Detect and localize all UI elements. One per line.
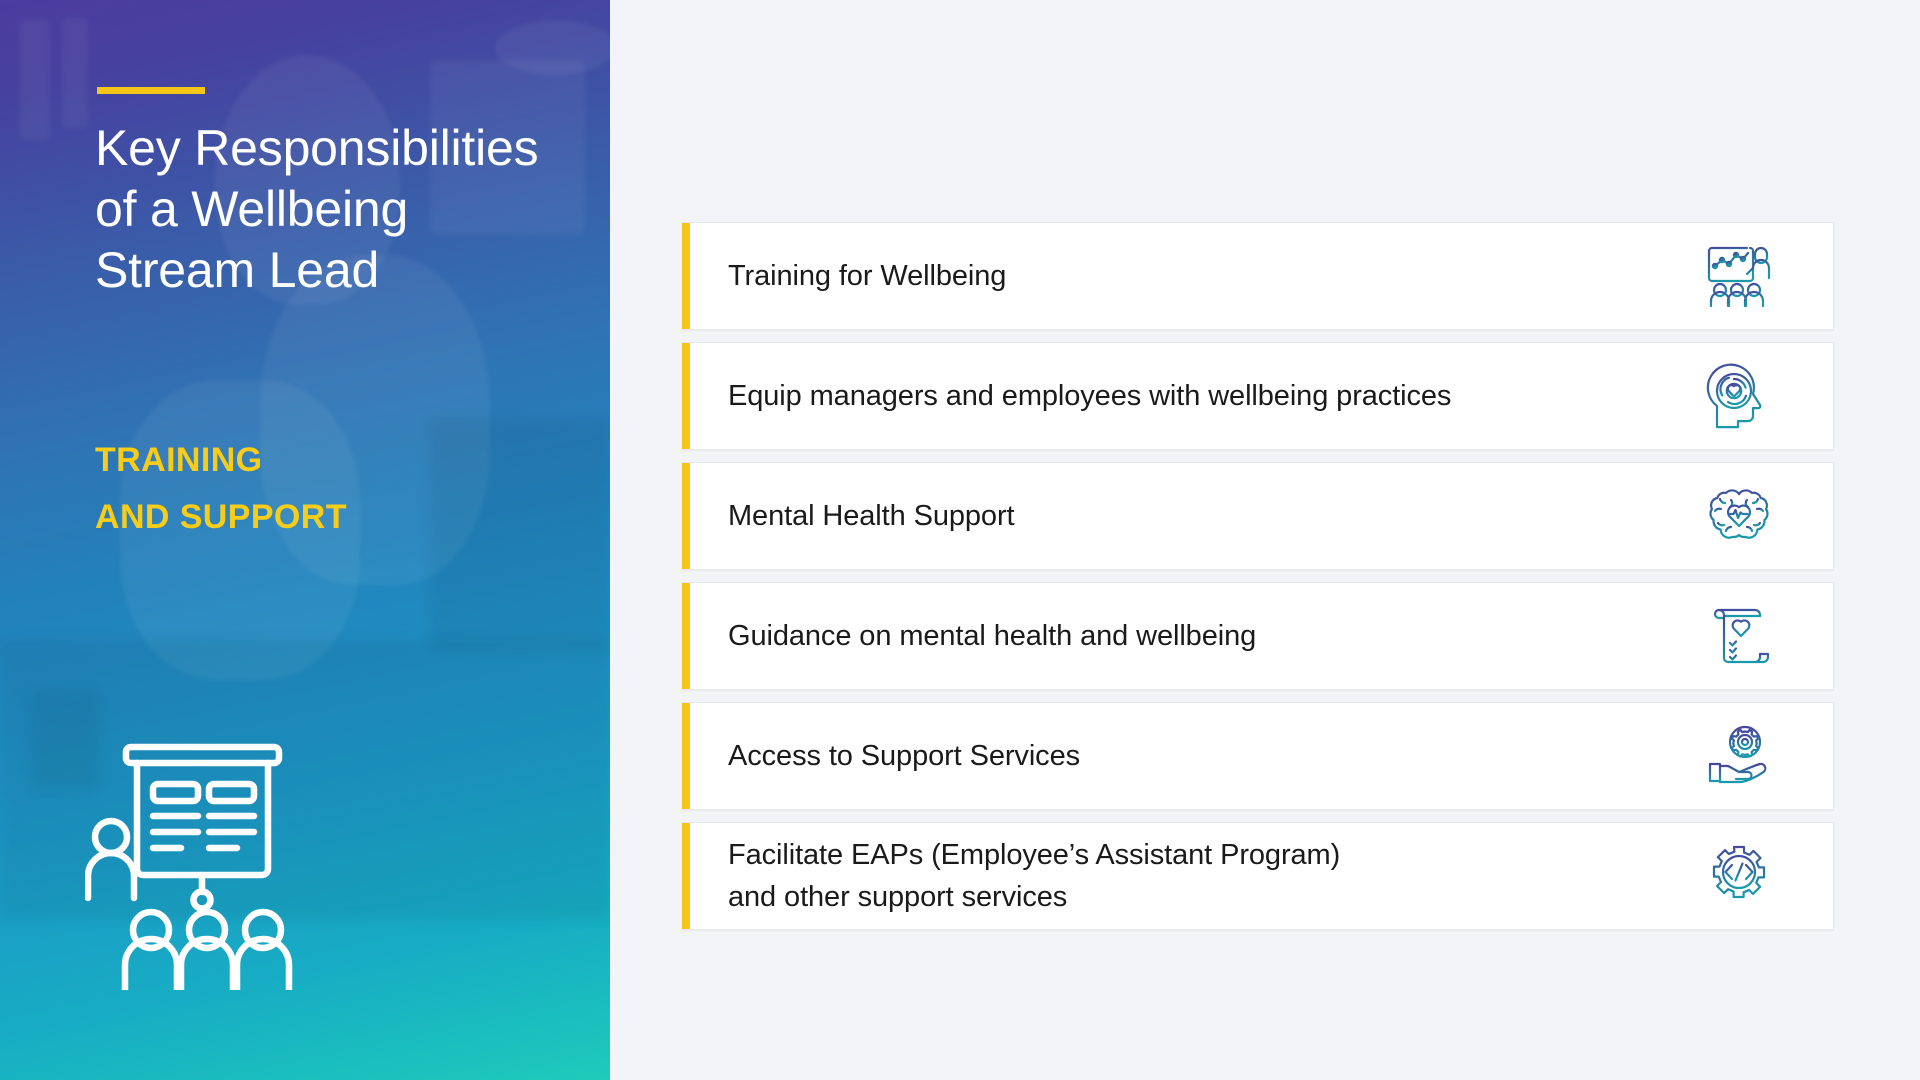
title-accent-rule [97,87,205,94]
page-subtitle: TRAINING AND SUPPORT [95,432,555,546]
responsibility-card[interactable]: Training for Wellbeing [682,222,1834,330]
scroll-heart-checklist-icon [1691,598,1787,674]
responsibility-card[interactable]: Guidance on mental health and wellbeing [682,582,1834,690]
card-label: Guidance on mental health and wellbeing [682,615,1691,657]
card-accent-bar [682,583,690,689]
gear-code-brackets-icon [1691,838,1787,914]
head-heart-mindfulness-icon [1691,358,1787,434]
page-title: Key Responsibilities of a Wellbeing Stre… [95,118,570,301]
card-accent-bar [682,343,690,449]
card-accent-bar [682,223,690,329]
subtitle-line-1: TRAINING [95,432,555,489]
brain-heartbeat-icon [1691,478,1787,554]
presentation-training-illustration [85,740,335,990]
card-label: Training for Wellbeing [682,255,1691,297]
training-presentation-icon [1691,238,1787,314]
card-label: Mental Health Support [682,495,1691,537]
card-accent-bar [682,703,690,809]
card-accent-bar [682,823,690,929]
responsibility-card[interactable]: Mental Health Support [682,462,1834,570]
responsibility-card-list: Training for Wellbeing [682,222,1834,930]
card-accent-bar [682,463,690,569]
subtitle-line-2: AND SUPPORT [95,489,555,546]
responsibility-card[interactable]: Equip managers and employees with wellbe… [682,342,1834,450]
responsibility-card[interactable]: Facilitate EAPs (Employee’s Assistant Pr… [682,822,1834,930]
card-label: Facilitate EAPs (Employee’s Assistant Pr… [682,834,1691,918]
right-content-panel: Training for Wellbeing [610,0,1920,1080]
card-label: Access to Support Services [682,735,1691,777]
hand-gear-support-icon [1691,718,1787,794]
left-title-panel: Key Responsibilities of a Wellbeing Stre… [0,0,610,1080]
card-label: Equip managers and employees with wellbe… [682,375,1691,417]
responsibility-card[interactable]: Access to Support Services [682,702,1834,810]
slide-root: Key Responsibilities of a Wellbeing Stre… [0,0,1920,1080]
